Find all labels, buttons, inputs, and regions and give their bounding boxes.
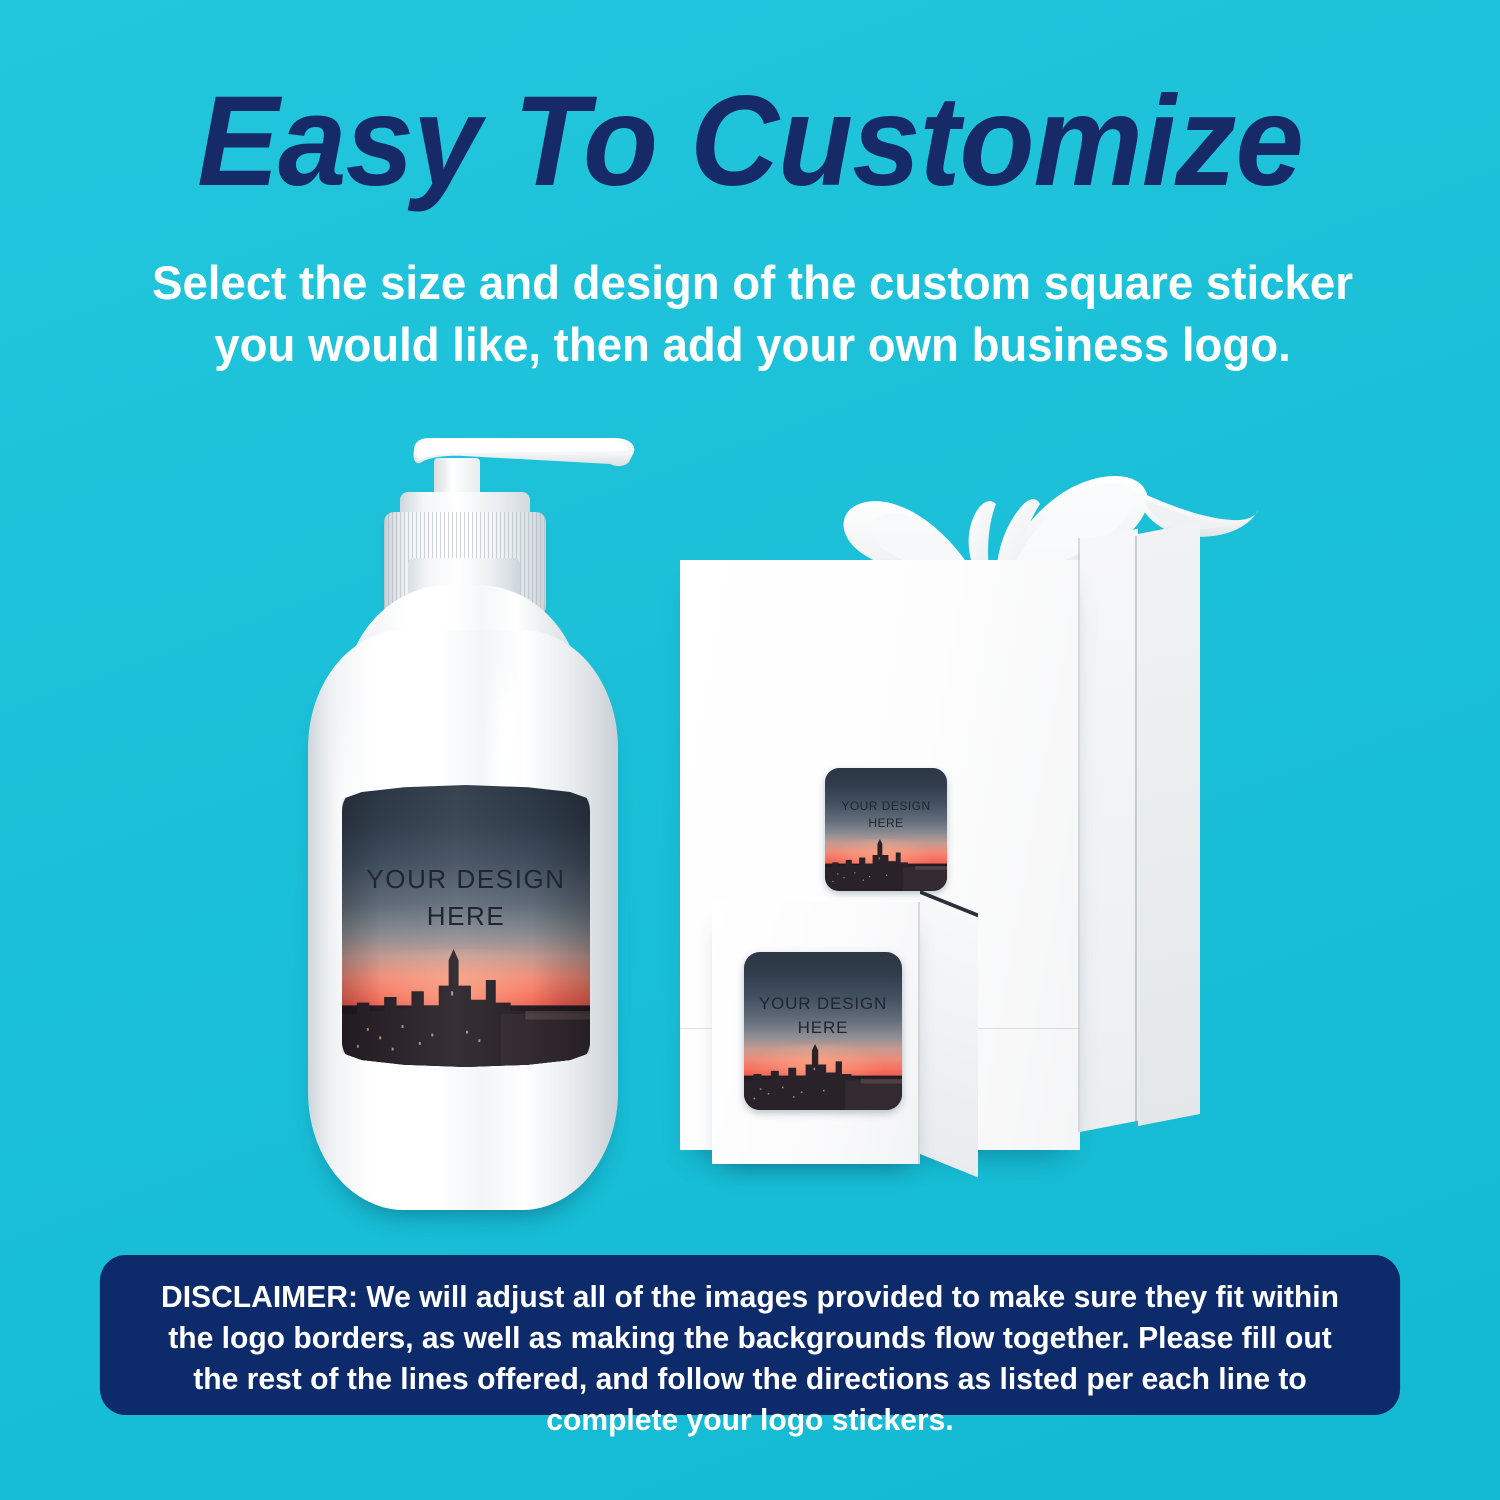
sticker-label-line-1: YOUR DESIGN — [744, 992, 902, 1016]
page-title: Easy To Customize — [30, 78, 1470, 206]
gift-box-front-edge — [1078, 538, 1080, 1132]
sticker-label-line-1: YOUR DESIGN — [342, 861, 590, 898]
product-scene: YOUR DESIGN HERE — [0, 400, 1500, 1230]
sticker-on-bottle[interactable]: YOUR DESIGN HERE — [342, 785, 590, 1067]
sticker-label-line-2: HERE — [825, 815, 947, 832]
gift-box-seam — [1135, 536, 1137, 1126]
subtitle-line-1: Select the size and design of the custom… — [129, 252, 1375, 314]
sticker-label-line-2: HERE — [744, 1016, 902, 1040]
city-skyline-icon — [342, 949, 590, 1067]
sticker-label-text: YOUR DESIGN HERE — [342, 861, 590, 935]
sticker-label-line-1: YOUR DESIGN — [825, 798, 947, 815]
small-box: YOUR DESIGN HERE — [712, 892, 982, 1167]
disclaimer-banner: DISCLAIMER: We will adjust all of the im… — [100, 1255, 1400, 1415]
disclaimer-label: DISCLAIMER: — [161, 1280, 366, 1314]
page-subtitle: Select the size and design of the custom… — [129, 252, 1375, 376]
promo-banner: Easy To Customize Select the size and de… — [0, 0, 1500, 1500]
sticker-label-line-2: HERE — [342, 898, 590, 935]
sticker-label-text: YOUR DESIGN HERE — [744, 992, 902, 1040]
small-box-front-edge — [918, 902, 920, 1164]
gift-box-lid-side — [1138, 522, 1200, 1126]
city-skyline-icon — [744, 1044, 902, 1110]
pump-bottle: YOUR DESIGN HERE — [296, 430, 636, 1230]
gift-box-right-panel — [1080, 529, 1138, 1132]
subtitle-line-2: you would like, then add your own busine… — [129, 314, 1375, 376]
sticker-on-small-box[interactable]: YOUR DESIGN HERE — [744, 952, 902, 1110]
city-skyline-icon — [825, 839, 947, 891]
sticker-label-text: YOUR DESIGN HERE — [825, 798, 947, 832]
sticker-on-gift-box[interactable]: YOUR DESIGN HERE — [825, 768, 947, 891]
small-box-right-panel — [920, 892, 978, 1177]
